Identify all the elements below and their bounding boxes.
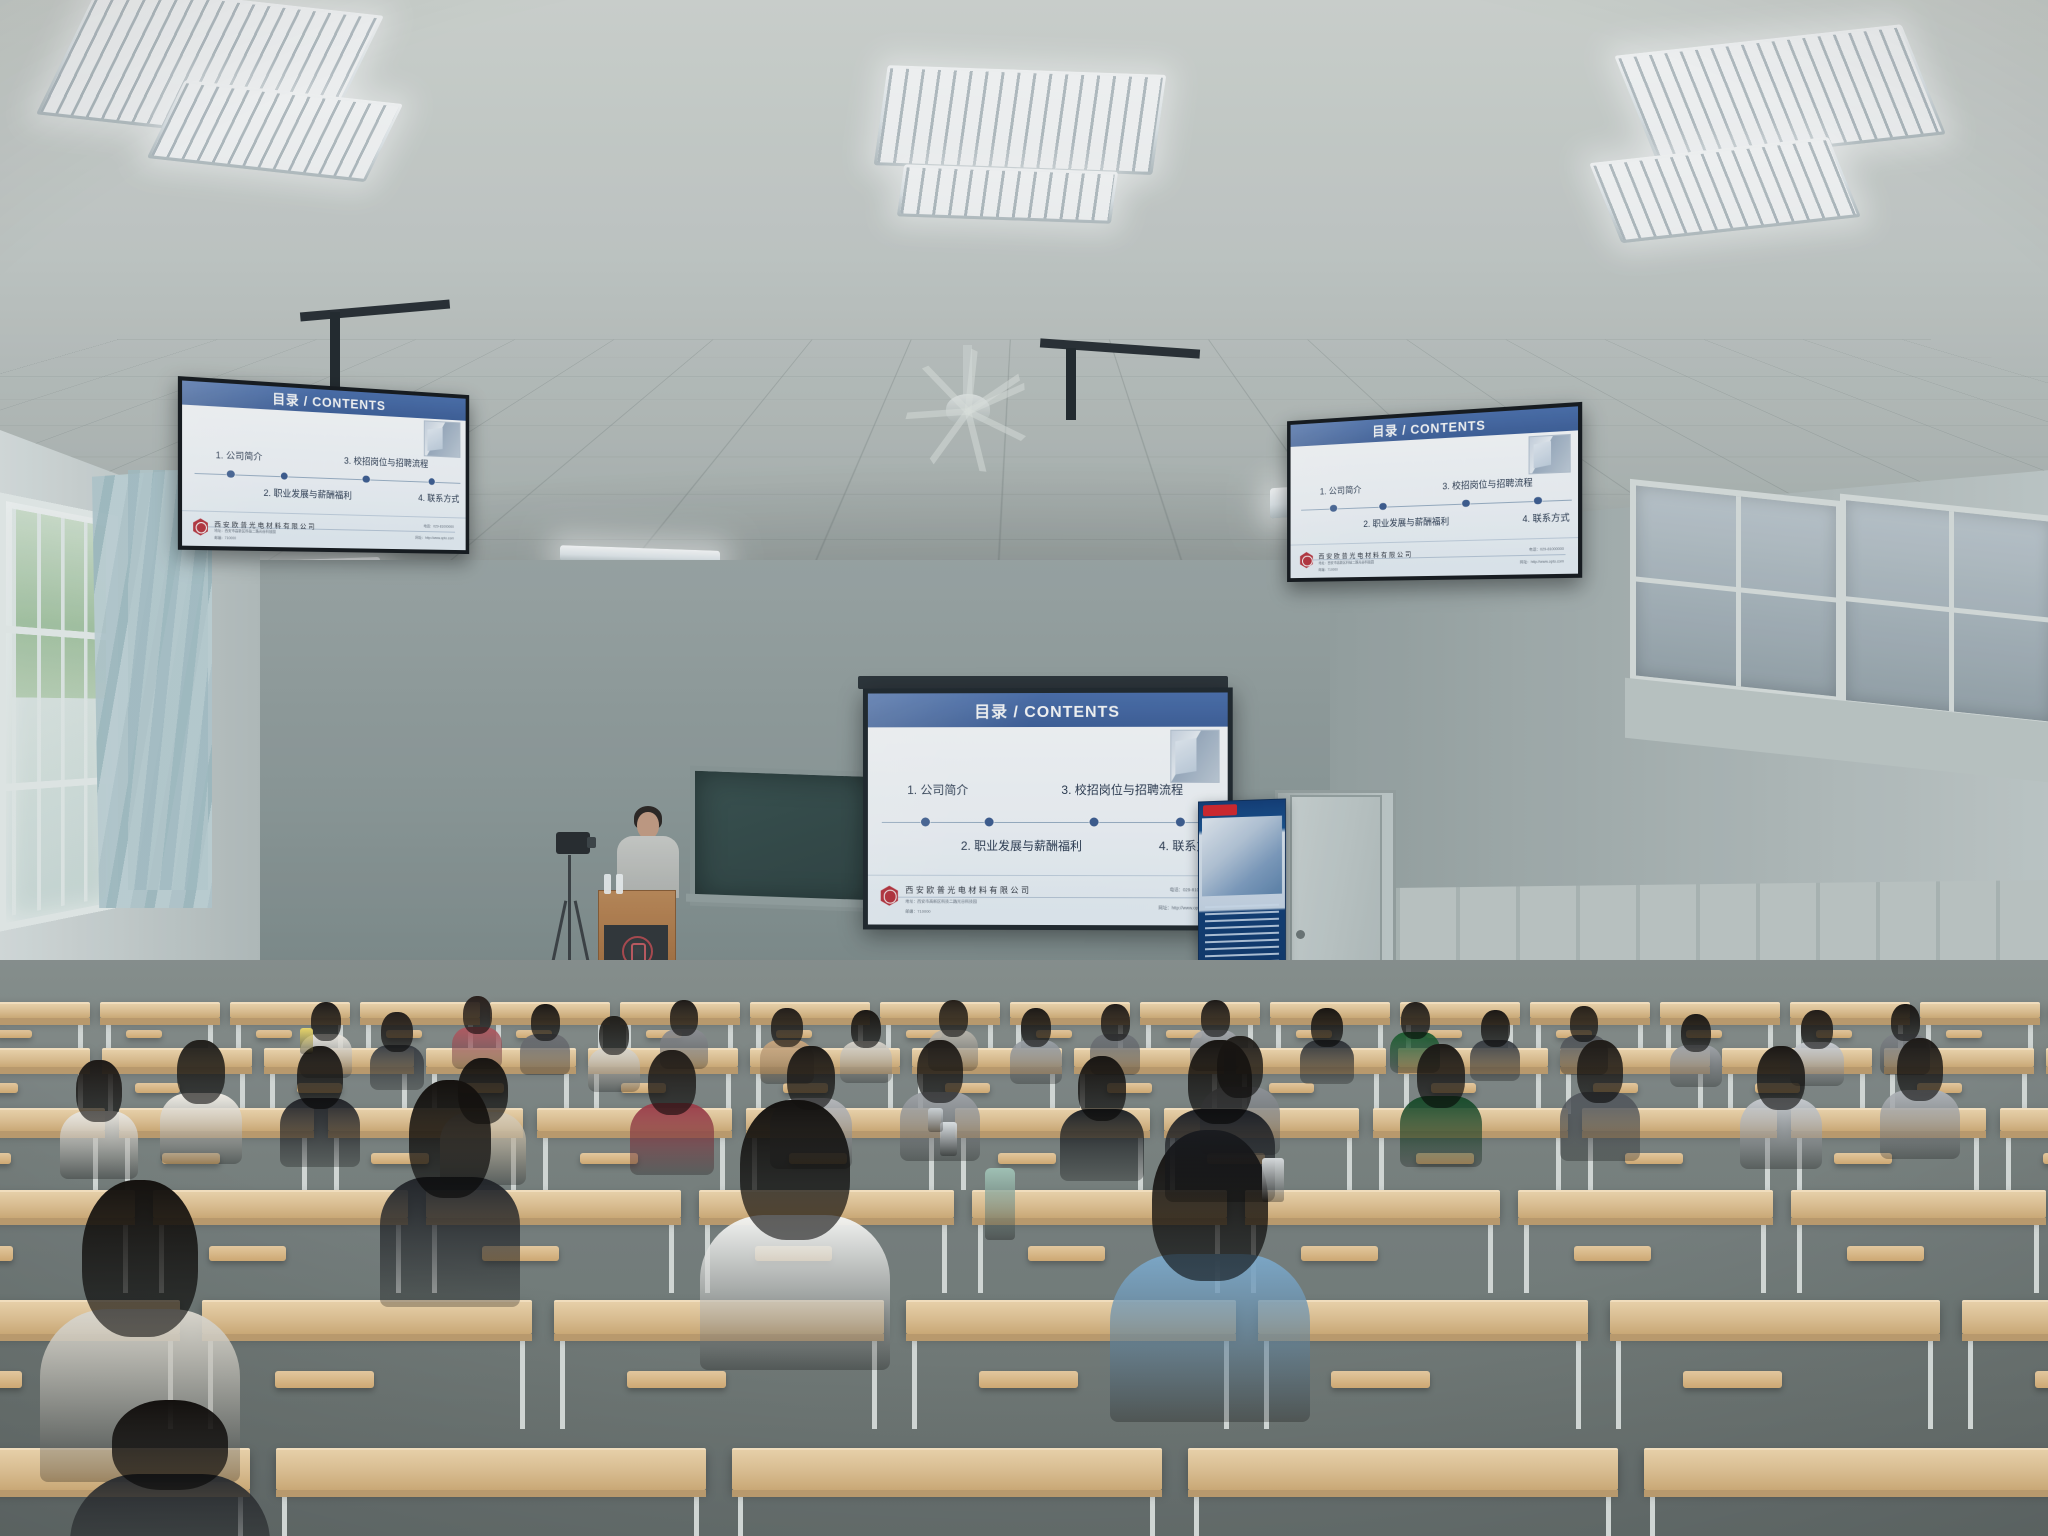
contents-item-2: 2. 职业发展与薪酬福利 xyxy=(264,486,352,502)
audience-member-head xyxy=(1681,1014,1711,1052)
contents-item-3: 3. 校招岗位与招聘流程 xyxy=(1442,475,1532,492)
desk-leg xyxy=(1524,1221,1529,1293)
company-building-photo xyxy=(1171,730,1220,783)
contents-item-2: 2. 职业发展与薪酬福利 xyxy=(961,837,1082,854)
audience-member xyxy=(1300,1008,1354,1078)
audience-member-head xyxy=(771,1008,802,1047)
timeline-dot xyxy=(1534,497,1542,505)
audience-member-head xyxy=(1897,1038,1943,1101)
student-chair xyxy=(256,1030,292,1038)
timeline-dot xyxy=(985,817,994,826)
contents-item-1: 1. 公司简介 xyxy=(216,448,263,463)
audience-member xyxy=(1740,1046,1822,1160)
audience-member-head xyxy=(1101,1004,1130,1041)
student-desk xyxy=(0,1002,90,1018)
desk-leg xyxy=(1347,1134,1352,1190)
desk-leg xyxy=(1488,1221,1493,1293)
right-window xyxy=(1630,479,1842,703)
student-chair xyxy=(0,1371,22,1389)
student-desk xyxy=(1920,1002,2040,1018)
window-security-bars xyxy=(12,509,107,916)
student-desk xyxy=(1791,1190,2046,1218)
audience-member-head xyxy=(112,1400,228,1490)
contents-item-3: 3. 校招岗位与招聘流程 xyxy=(344,454,428,470)
slide-contents: 目录 / CONTENTS 1. 公司简介 2. 职业发展与薪酬福利 3. 校招… xyxy=(182,380,466,550)
student-chair xyxy=(0,1083,18,1092)
audience-member xyxy=(520,1004,570,1070)
company-logo-icon xyxy=(1299,552,1314,568)
audience-member-head xyxy=(1078,1056,1127,1121)
slide-contents: 目录 / CONTENTS 1. 公司简介 2. 职业发展与薪酬福利 3. 校招… xyxy=(868,692,1228,925)
audience-member xyxy=(1165,1040,1275,1190)
student-desk xyxy=(1188,1448,1618,1490)
desk-leg xyxy=(1797,1221,1802,1293)
timeline-dot xyxy=(1462,499,1469,507)
door-handle[interactable] xyxy=(1296,930,1305,939)
slide-title: 目录 / CONTENTS xyxy=(272,388,385,414)
timeline-dot xyxy=(280,472,287,480)
timeline-dot xyxy=(363,475,370,483)
desk-leg xyxy=(1968,1337,1973,1429)
slide-timeline-axis xyxy=(882,822,1220,823)
desk-leg xyxy=(543,1134,548,1190)
company-building-photo xyxy=(424,421,460,458)
tv-mount-pole xyxy=(1066,348,1076,420)
ceiling-light-fixture xyxy=(874,65,1167,175)
audience-member-head xyxy=(76,1060,121,1122)
right-window xyxy=(1840,494,2048,729)
slide-timeline-axis xyxy=(1301,499,1572,510)
audience-member-head xyxy=(177,1040,225,1104)
student-chair xyxy=(627,1371,726,1389)
company-address-1: 地址：西安市高新区科技二路光谷科技园 xyxy=(214,528,275,534)
company-tel: 电话：029-81000000 xyxy=(424,524,454,530)
student-chair xyxy=(998,1153,1057,1165)
student-chair xyxy=(1301,1246,1378,1260)
company-logo-icon xyxy=(192,518,209,536)
center-projection-screen: 目录 / CONTENTS 1. 公司简介 2. 职业发展与薪酬福利 3. 校招… xyxy=(863,687,1233,930)
audience-member xyxy=(700,1100,890,1350)
water-bottle xyxy=(985,1168,1015,1240)
contents-item-1: 1. 公司简介 xyxy=(1320,483,1362,497)
student-chair xyxy=(1028,1246,1105,1260)
slide-footer: 西安欧普光电材料有限公司 地址：西安市高新区科技二路光谷科技园 邮编：71000… xyxy=(182,510,466,550)
contents-item-2: 2. 职业发展与薪酬福利 xyxy=(1363,514,1449,530)
audience-member-head xyxy=(1201,1000,1230,1037)
student-chair xyxy=(2035,1371,2048,1389)
drink-cup xyxy=(1262,1158,1284,1202)
desk-leg xyxy=(282,1493,287,1536)
desk-leg xyxy=(2006,1134,2011,1190)
classroom-scene: 目录 / CONTENTS 1. 公司简介 2. 职业发展与薪酬福利 3. 校招… xyxy=(0,0,2048,1536)
audience-member xyxy=(1560,1040,1640,1152)
audience-member xyxy=(1400,1044,1482,1158)
audience-member xyxy=(280,1046,360,1158)
student-chair xyxy=(0,1030,32,1038)
water-bottle xyxy=(616,874,623,894)
timeline-dot xyxy=(428,478,435,485)
desk-leg xyxy=(2034,1221,2039,1293)
student-chair xyxy=(2043,1153,2048,1165)
timeline-dot xyxy=(1176,817,1185,826)
audience-member-head xyxy=(1417,1044,1465,1108)
student-desk xyxy=(1518,1190,1773,1218)
company-address-2: 邮编：710000 xyxy=(214,535,236,541)
audience-member-head xyxy=(1757,1046,1805,1110)
desk-leg xyxy=(1761,1221,1766,1293)
video-camera xyxy=(556,832,590,854)
desk-leg xyxy=(669,1221,674,1293)
desk-leg xyxy=(1616,1337,1621,1429)
drink-cup xyxy=(300,1028,313,1054)
company-web: 网址：http://www.opto.com xyxy=(415,536,454,542)
audience-member-head xyxy=(311,1002,341,1041)
audience-member-head xyxy=(851,1010,881,1048)
company-address-2: 邮编：710000 xyxy=(1318,567,1337,572)
desk-leg xyxy=(1650,1493,1655,1536)
audience-member-head xyxy=(409,1080,490,1198)
student-chair xyxy=(1331,1371,1430,1389)
audience-member xyxy=(70,1400,270,1536)
company-address-1: 地址：西安市高新区科技二路光谷科技园 xyxy=(905,899,977,905)
desk-leg xyxy=(560,1337,565,1429)
audience-member-head xyxy=(1801,1010,1832,1049)
audience-member xyxy=(452,996,502,1064)
desk-leg xyxy=(942,1221,947,1293)
desk-leg xyxy=(1150,1493,1155,1536)
student-chair xyxy=(0,1246,13,1260)
audience-member-head xyxy=(531,1004,560,1041)
desk-leg xyxy=(1194,1493,1199,1536)
audience-member-head xyxy=(1570,1006,1598,1042)
contents-item-4: 4. 联系方式 xyxy=(1522,510,1569,525)
audience-member-head xyxy=(1577,1040,1623,1103)
audience-member-head xyxy=(1021,1008,1051,1047)
desk-leg xyxy=(1606,1493,1611,1536)
student-chair xyxy=(275,1371,374,1389)
student-chair xyxy=(126,1030,162,1038)
audience-member xyxy=(1010,1008,1062,1078)
desk-leg xyxy=(1379,1134,1384,1190)
contents-item-1: 1. 公司简介 xyxy=(907,781,968,798)
company-web: 网址：http://www.opto.com xyxy=(1520,559,1564,565)
student-desk xyxy=(1644,1448,2048,1490)
tv-mount-pole xyxy=(330,312,340,392)
slide-footer: 西安欧普光电材料有限公司 地址：西安市高新区科技二路光谷科技园 邮编：71000… xyxy=(868,875,1228,926)
slide-timeline-axis xyxy=(194,473,460,484)
left-wall-tv: 目录 / CONTENTS 1. 公司简介 2. 职业发展与薪酬福利 3. 校招… xyxy=(178,376,469,554)
audience-member-head xyxy=(1311,1008,1342,1047)
company-building-photo xyxy=(1529,433,1571,474)
timeline-dot xyxy=(1089,817,1098,826)
student-desk xyxy=(732,1448,1162,1490)
audience-member-head xyxy=(670,1000,698,1036)
drink-cup xyxy=(928,1108,943,1132)
audience-member-head xyxy=(917,1040,963,1103)
audience-member-head xyxy=(381,1012,412,1052)
audience-member-head xyxy=(648,1050,697,1115)
timeline-dot xyxy=(1330,505,1337,513)
student-chair xyxy=(1946,1030,1982,1038)
company-tel: 电话：029-81000000 xyxy=(1529,547,1564,553)
contents-item-3: 3. 校招岗位与招聘流程 xyxy=(1061,781,1183,798)
audience-member-head xyxy=(1401,1002,1430,1039)
audience-member-head xyxy=(939,1000,968,1037)
desk-leg xyxy=(1974,1134,1979,1190)
desk-leg xyxy=(520,1337,525,1429)
student-desk xyxy=(2000,1108,2048,1131)
right-wall-tv: 目录 / CONTENTS 1. 公司简介 2. 职业发展与薪酬福利 3. 校招… xyxy=(1287,402,1582,582)
company-address-1: 地址：西安市高新区科技二路光谷科技园 xyxy=(1318,559,1373,565)
student-desk xyxy=(100,1002,220,1018)
banner-photo xyxy=(1202,816,1282,897)
audience-member xyxy=(370,1012,424,1084)
desk-leg xyxy=(1576,1337,1581,1429)
audience-member-head xyxy=(297,1046,343,1109)
student-desk xyxy=(1610,1300,1940,1334)
slide-footer: 西安欧普光电材料有限公司 地址：西安市高新区科技二路光谷科技园 邮编：71000… xyxy=(1291,537,1578,578)
slide-contents: 目录 / CONTENTS 1. 公司简介 2. 职业发展与薪酬福利 3. 校招… xyxy=(1291,406,1578,578)
student-desk xyxy=(276,1448,706,1490)
audience-member-head xyxy=(1188,1040,1252,1124)
audience-member xyxy=(160,1040,242,1155)
banner-logo-icon xyxy=(1203,804,1237,816)
slide-title: 目录 / CONTENTS xyxy=(1372,414,1485,440)
water-bottle xyxy=(604,874,611,894)
student-chair xyxy=(1683,1371,1782,1389)
company-name: 西安欧普光电材料有限公司 xyxy=(905,885,1031,896)
slide-title: 目录 / CONTENTS xyxy=(974,698,1120,722)
audience-member-head xyxy=(463,996,492,1034)
camera-tripod xyxy=(568,855,571,975)
desk-leg xyxy=(1928,1337,1933,1429)
audience-member-head xyxy=(82,1180,198,1337)
audience-member xyxy=(1880,1038,1960,1150)
audience-member xyxy=(1670,1014,1722,1082)
desk-leg xyxy=(738,1493,743,1536)
audience-member-head xyxy=(740,1100,850,1240)
audience-member xyxy=(60,1060,138,1170)
desk-leg xyxy=(978,1221,983,1293)
company-logo-icon xyxy=(879,886,899,906)
contents-item-4: 4. 联系方式 xyxy=(418,491,459,505)
student-chair xyxy=(1574,1246,1651,1260)
desk-leg xyxy=(694,1493,699,1536)
ceiling-light-fixture xyxy=(897,164,1118,224)
audience-member-head xyxy=(599,1016,629,1055)
presenter xyxy=(617,836,679,898)
audience-member-head xyxy=(1891,1004,1920,1041)
slide-header: 目录 / CONTENTS xyxy=(868,692,1228,727)
desk-leg xyxy=(912,1337,917,1429)
student-chair xyxy=(979,1371,1078,1389)
company-address-2: 邮编：710000 xyxy=(905,909,930,915)
audience-member xyxy=(380,1080,520,1290)
timeline-dot xyxy=(227,470,235,478)
student-chair xyxy=(1847,1246,1924,1260)
student-desk xyxy=(1962,1300,2048,1334)
audience-member-head xyxy=(1481,1010,1510,1047)
student-chair xyxy=(0,1153,11,1165)
timeline-dot xyxy=(921,817,930,826)
presenter-head xyxy=(637,812,659,839)
timeline-dot xyxy=(1379,503,1386,511)
